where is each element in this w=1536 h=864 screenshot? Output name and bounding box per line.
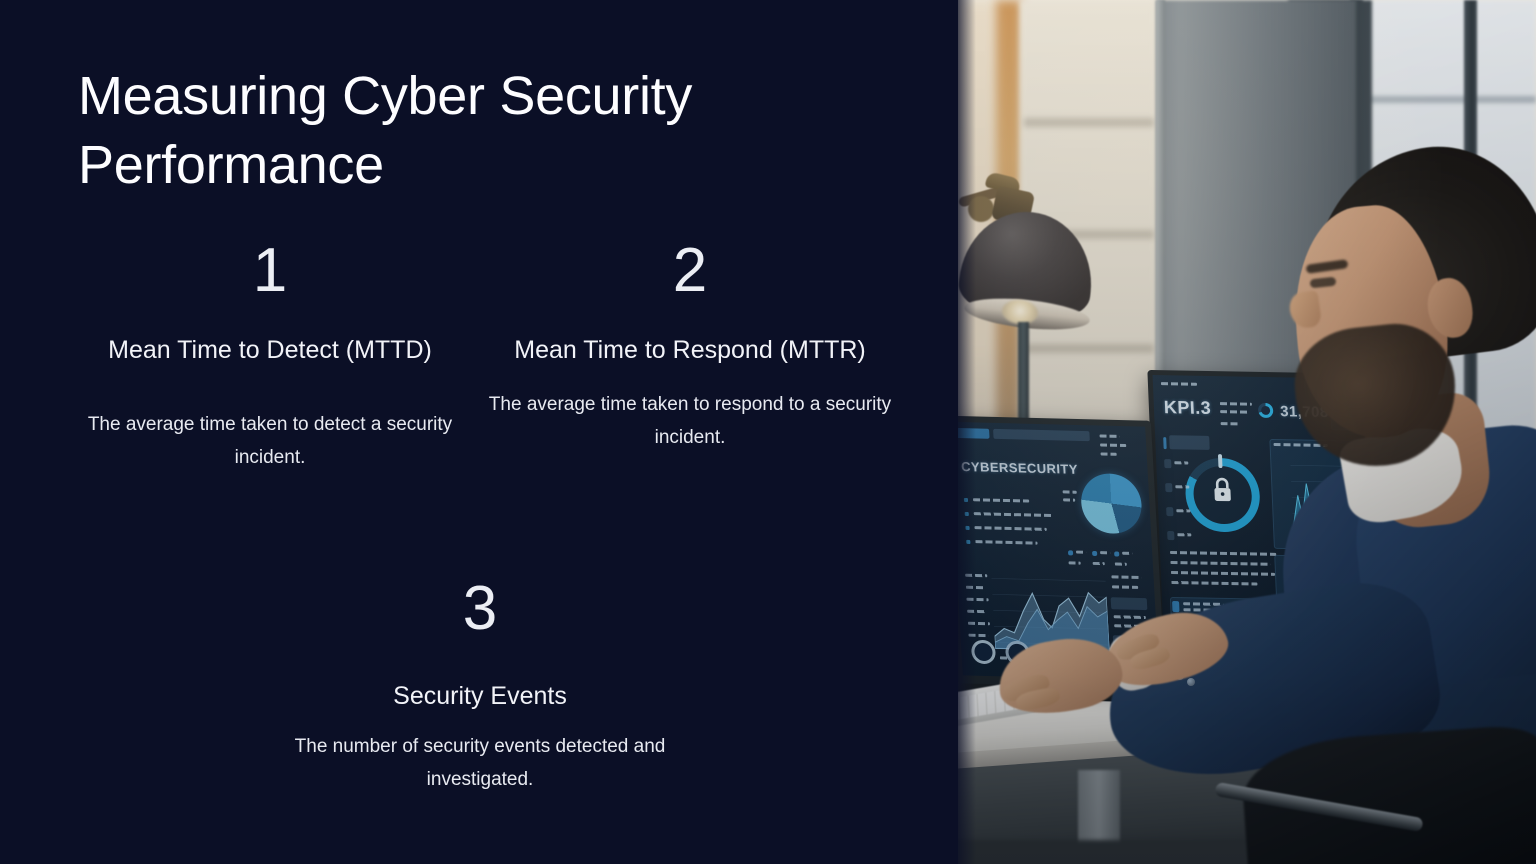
monitor-kpi-heading: KPI.3 [1164, 397, 1212, 419]
building-floor-line [1024, 344, 1154, 353]
building-floor-line [1024, 118, 1154, 127]
lamp-joint [968, 196, 994, 222]
kpi-title-1: Mean Time to Detect (MTTD) [55, 334, 485, 367]
kpi-item-mttd: 1 Mean Time to Detect (MTTD) The average… [55, 240, 485, 475]
kpi-number-1: 1 [55, 240, 485, 302]
kpi-description-2: The average time taken to respond to a s… [475, 389, 905, 454]
window-frame-horizontal [1356, 96, 1536, 103]
office-photo: KPI.3 31,708 [958, 0, 1536, 864]
laptop-gauge [971, 640, 996, 665]
kpi-number-3: 3 [265, 578, 695, 640]
kpi-title-2: Mean Time to Respond (MTTR) [475, 334, 905, 367]
kpi-description-3: The number of security events detected a… [265, 731, 695, 796]
text-panel: Measuring Cyber Security Performance 1 M… [0, 0, 958, 864]
slide-canvas: Measuring Cyber Security Performance 1 M… [0, 0, 1536, 864]
laptop-pie-chart [1080, 473, 1144, 534]
laptop-dashboard-heading: CYBERSECURITY [961, 460, 1072, 478]
lock-icon [1210, 476, 1235, 504]
kpi-item-security-events: 3 Security Events The number of security… [265, 578, 695, 797]
kpi-number-2: 2 [475, 240, 905, 302]
kpi-item-mttr: 2 Mean Time to Respond (MTTR) The averag… [475, 240, 905, 455]
kpi-title-3: Security Events [265, 680, 695, 713]
kpi-description-1: The average time taken to detect a secur… [55, 409, 485, 474]
page-title: Measuring Cyber Security Performance [78, 62, 778, 199]
